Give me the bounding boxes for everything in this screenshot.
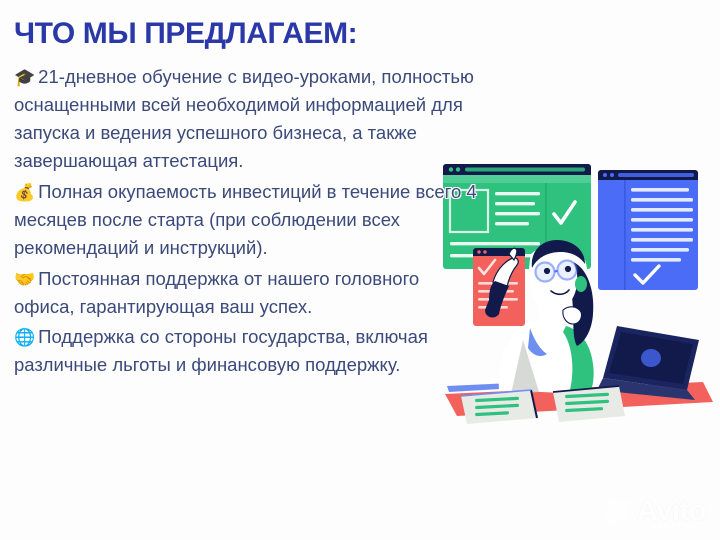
graduation-cap-icon: 🎓 bbox=[14, 68, 35, 88]
money-bag-icon: 💰 bbox=[14, 183, 35, 203]
globe-icon: 🌐 bbox=[14, 328, 35, 348]
avito-logo-icon bbox=[603, 496, 633, 526]
bullet-item-training: 🎓21-дневное обучение с видео-уроками, по… bbox=[14, 63, 484, 176]
laptop bbox=[597, 326, 699, 400]
desk-documents bbox=[461, 386, 625, 424]
bullet-item-state-support: 🌐Поддержка со стороны государства, включ… bbox=[14, 323, 484, 380]
page-title: ЧТО МЫ ПРЕДЛАГАЕМ: bbox=[14, 18, 500, 50]
avito-watermark: Avito bbox=[603, 496, 706, 526]
blue-browser-window bbox=[598, 170, 698, 290]
woman-figure bbox=[485, 240, 594, 396]
avito-wordmark: Avito bbox=[637, 497, 706, 526]
bullet-item-support: 🤝Постоянная поддержка от нашего головног… bbox=[14, 265, 484, 322]
bullet-text: 21-дневное обучение с видео-уроками, пол… bbox=[14, 66, 474, 172]
bullet-text: Поддержка со стороны государства, включа… bbox=[14, 326, 428, 375]
bullet-text: Полная окупаемость инвестиций в течение … bbox=[14, 181, 477, 259]
red-desk-surface bbox=[445, 381, 713, 416]
bullet-text: Постоянная поддержка от нашего головного… bbox=[14, 268, 419, 317]
content-column: ЧТО МЫ ПРЕДЛАГАЕМ: 🎓21-дневное обучение … bbox=[0, 0, 500, 380]
handshake-icon: 🤝 bbox=[14, 270, 35, 290]
slide-canvas: ЧТО МЫ ПРЕДЛАГАЕМ: 🎓21-дневное обучение … bbox=[0, 0, 720, 540]
bullet-item-roi: 💰Полная окупаемость инвестиций в течение… bbox=[14, 178, 484, 263]
